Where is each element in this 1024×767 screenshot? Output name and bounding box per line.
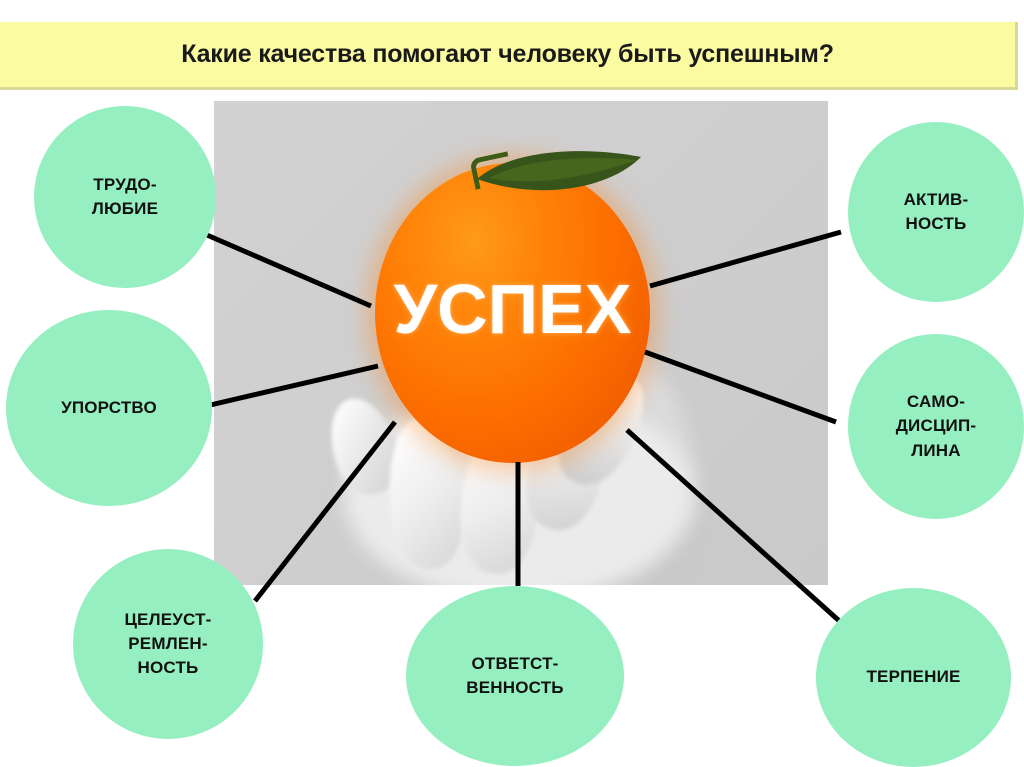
bubble-label: ТЕРПЕНИЕ xyxy=(866,665,960,689)
title-banner: Какие качества помогают человеку быть ус… xyxy=(0,22,1018,90)
bubble-otvetstvennost[interactable]: ОТВЕТСТ- ВЕННОСТЬ xyxy=(406,586,624,766)
center-image-panel: УСПЕХ xyxy=(214,101,828,585)
orange-fruit: УСПЕХ xyxy=(375,163,650,463)
bubble-tseleustremlenost[interactable]: ЦЕЛЕУСТ- РЕМЛЕН- НОСТЬ xyxy=(73,549,263,739)
bubble-uporstvo[interactable]: УПОРСТВО xyxy=(6,310,212,506)
bubble-label: САМО- ДИСЦИП- ЛИНА xyxy=(896,390,977,462)
bubble-trudolyubie[interactable]: ТРУДО- ЛЮБИЕ xyxy=(34,106,216,288)
page-title: Какие качества помогают человеку быть ус… xyxy=(181,40,834,69)
bubble-label: УПОРСТВО xyxy=(61,396,157,420)
leaf-icon xyxy=(469,149,649,199)
bubble-aktivnost[interactable]: АКТИВ- НОСТЬ xyxy=(848,122,1024,302)
bubble-samodistsiplina[interactable]: САМО- ДИСЦИП- ЛИНА xyxy=(848,334,1024,519)
bubble-label: ЦЕЛЕУСТ- РЕМЛЕН- НОСТЬ xyxy=(124,608,211,680)
bubble-label: АКТИВ- НОСТЬ xyxy=(904,188,969,236)
bubble-label: ТРУДО- ЛЮБИЕ xyxy=(92,173,158,221)
bubble-terpenie[interactable]: ТЕРПЕНИЕ xyxy=(816,588,1011,767)
bubble-label: ОТВЕТСТ- ВЕННОСТЬ xyxy=(466,652,563,700)
success-label: УСПЕХ xyxy=(394,269,632,349)
